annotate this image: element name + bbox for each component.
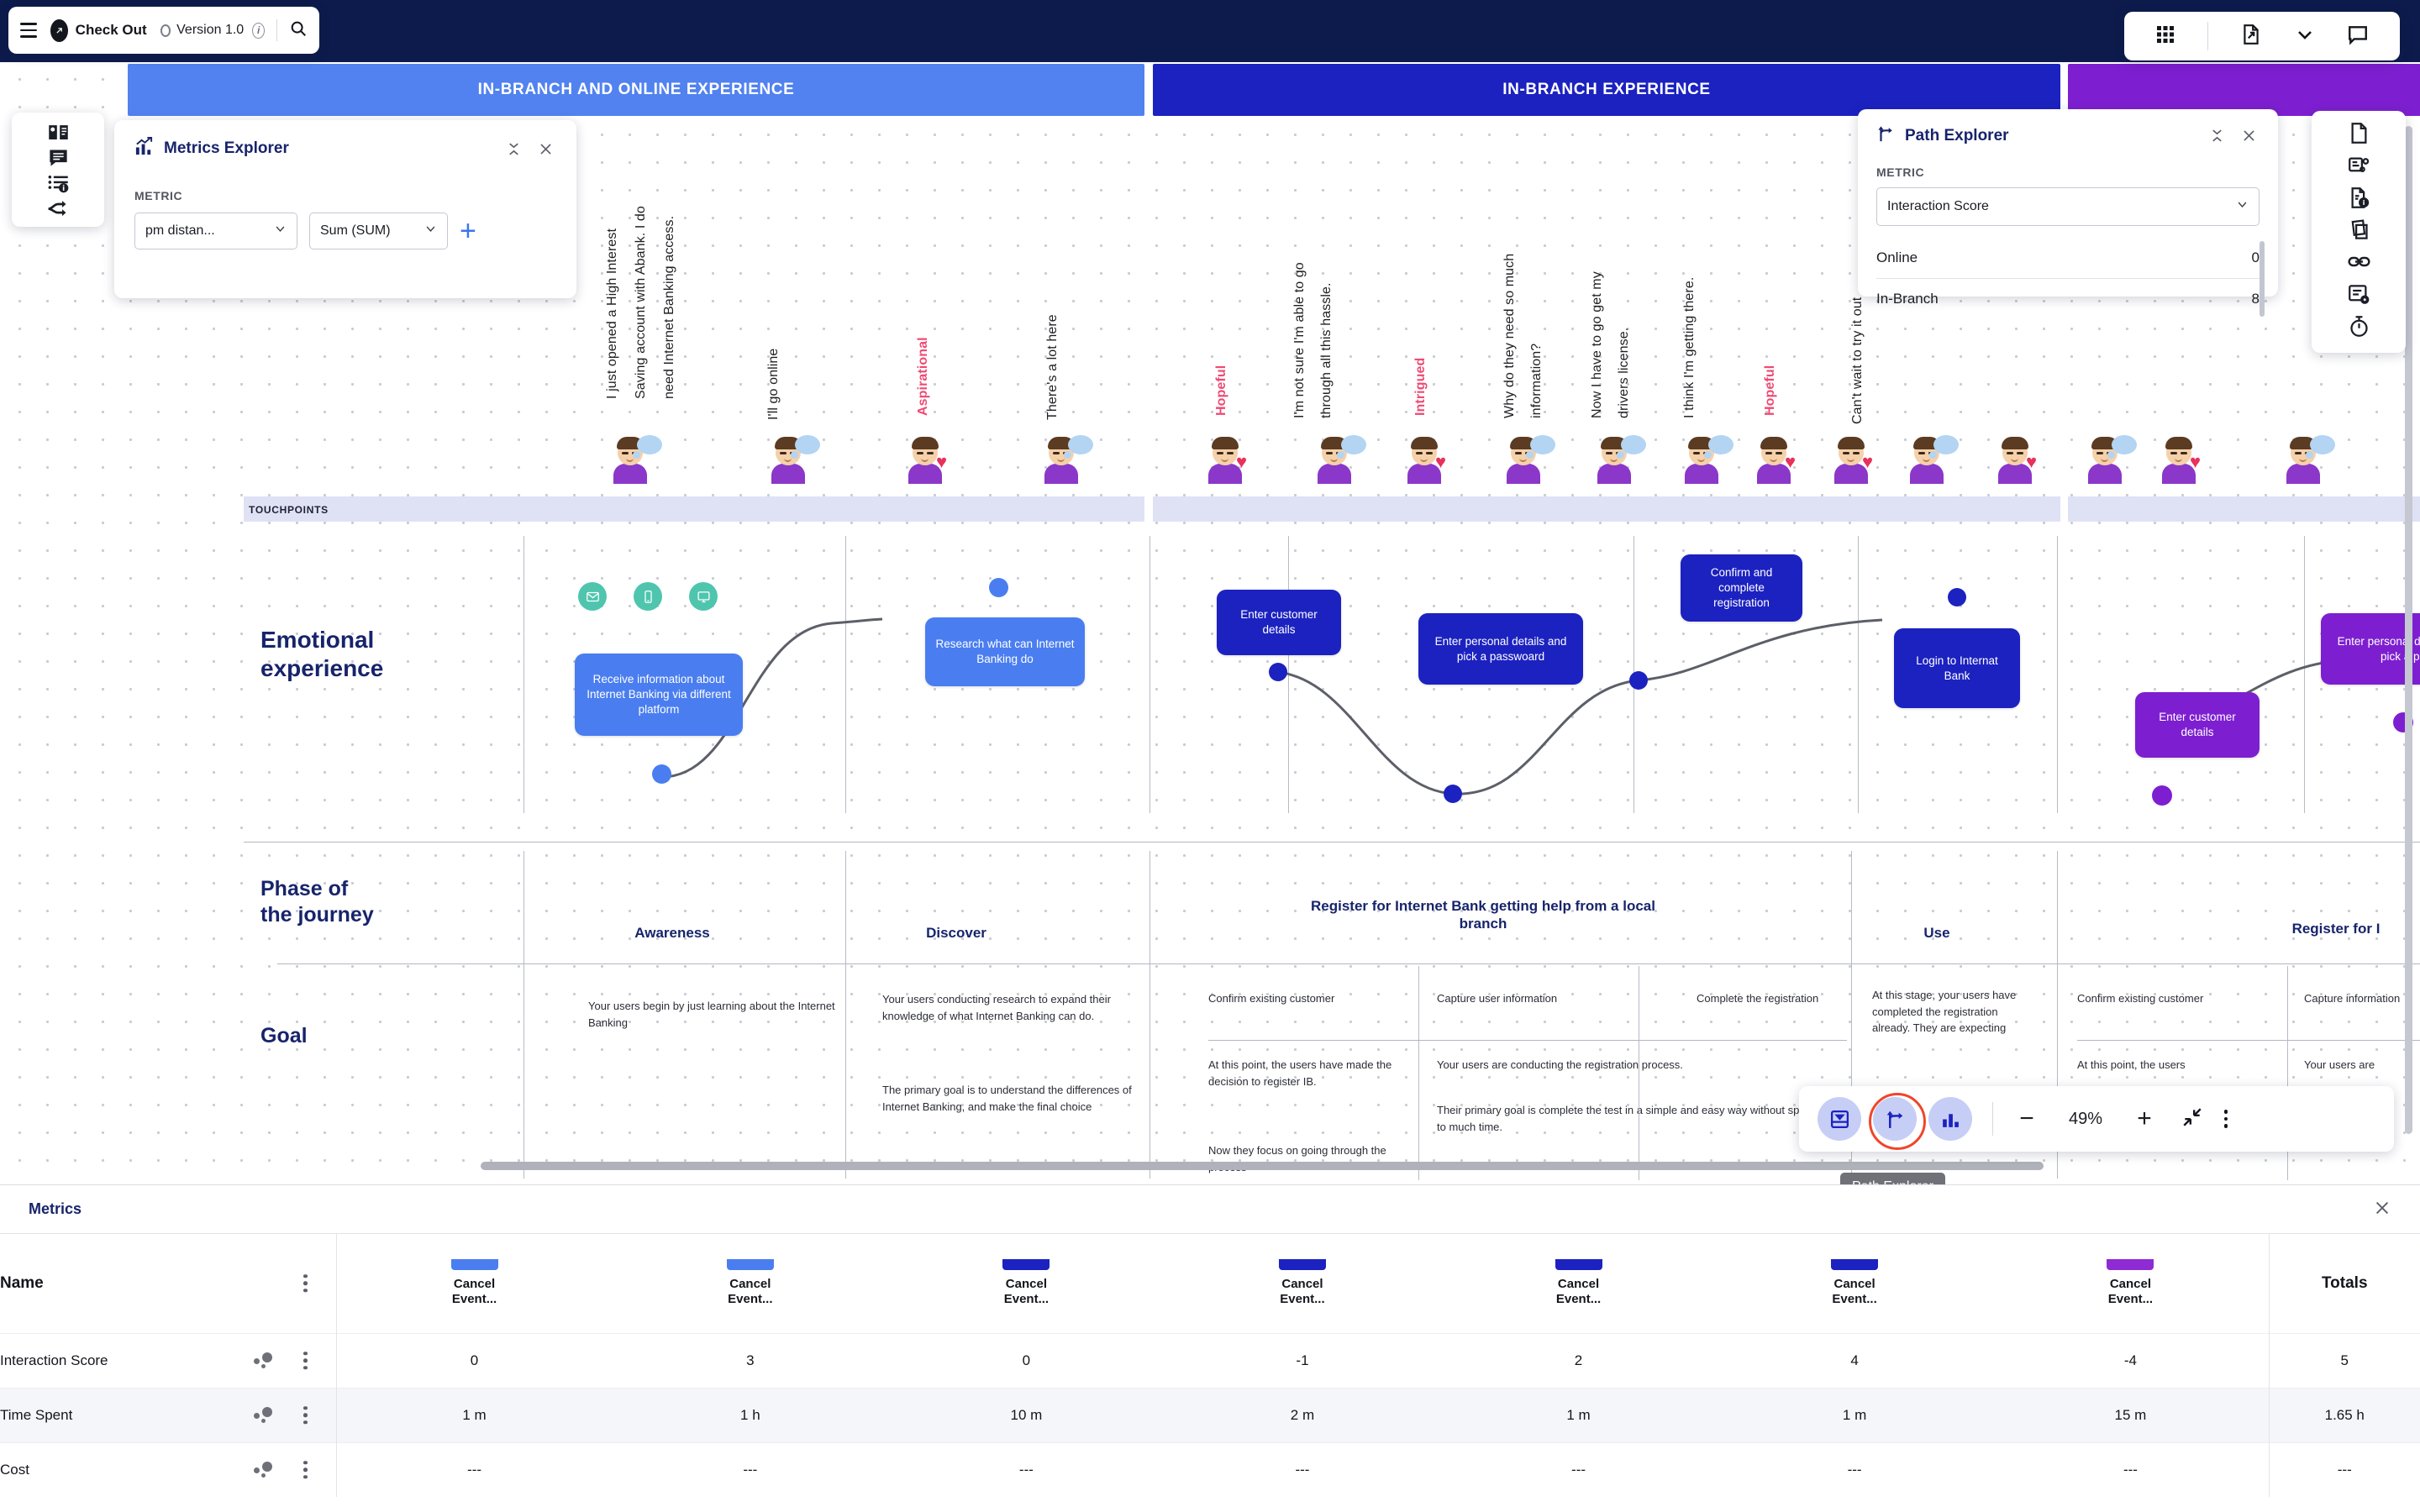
metric-value-cell: 1 m [336,1388,613,1442]
quote-label: I'll go online [765,311,782,420]
metric-value-cell: 1 m [1717,1388,1993,1442]
path-split-icon [1876,124,1895,147]
metric-value-cell: --- [1165,1442,1441,1497]
metric-value-cell: -4 [1992,1333,2269,1388]
path-list-scrollbar[interactable] [2260,241,2265,317]
banner-label: IN-BRANCH AND ONLINE EXPERIENCE [478,81,795,99]
journey-step-label: Enter customer details [2144,710,2251,740]
emotional-experience-title: Emotional experience [260,626,383,683]
kebab-icon[interactable] [303,1352,308,1370]
top-right-toolbar [2124,12,2400,60]
emotion-point[interactable] [1629,671,1648,690]
list-info-icon[interactable]: i [44,170,72,195]
persona-avatar: ♥ [1206,435,1255,484]
metric-field-label: METRIC [1876,165,2260,179]
metrics-explorer-button[interactable] [1928,1097,1972,1141]
path-explorer-panel: Path Explorer METRIC Interaction Score O… [1858,109,2278,297]
metric-value-cell: --- [1440,1442,1717,1497]
phase-of-journey-title: Phase of the journey [260,876,374,927]
app-bar: Check Out Version 1.0 i [8,7,319,54]
banner-in-branch: IN-BRANCH EXPERIENCE [1153,64,2060,116]
persona-avatar [1504,435,1553,484]
persona-avatar: ♥ [2160,435,2208,484]
metric-value-cell: 15 m [1992,1388,2269,1442]
file-export-icon[interactable] [2240,24,2262,50]
persona-avatar: ♥ [1996,435,2044,484]
panel-title: Metrics Explorer [164,139,492,158]
sub-phase-label: Confirm existing customer [2077,991,2237,1007]
quote-label: need Internet Banking access. [660,147,678,399]
persona-avatar [611,435,660,484]
phase-label: Register for I [2252,920,2420,937]
journey-step-card[interactable]: Confirm and complete registration [1681,554,1802,622]
goal-text: Now they focus on going through the proc… [1208,1142,1402,1175]
svg-text:i: i [2362,199,2365,207]
metric-name-label: Time Spent [0,1407,72,1423]
emotion-point[interactable] [2152,785,2172,806]
page-title: Check Out [76,22,147,39]
column-header-event[interactable]: CancelEvent... [888,1234,1165,1333]
journey-step-card[interactable]: Login to Internat Bank [1894,628,2020,708]
sub-phase-label: Capture user information [1437,991,1597,1007]
divider [1992,1102,1993,1136]
metrics-table-header: Metrics [0,1185,2420,1234]
app-logo-icon[interactable] [50,19,68,42]
path-row-label: In-Branch [1876,291,1939,307]
metrics-table: NameCancelEvent...CancelEvent...CancelEv… [0,1234,2420,1497]
quote-label: I'm not sure I'm able to go [1291,208,1308,418]
persona-avatar: ♥ [1832,435,1881,484]
banner-in-branch-online: IN-BRANCH AND ONLINE EXPERIENCE [128,64,1144,116]
metric-value-cell: 1 h [613,1388,889,1442]
column-header-event[interactable]: CancelEvent... [613,1234,889,1333]
bottom-toolbar: − 49% + [1799,1086,2394,1152]
kebab-icon[interactable] [303,1461,308,1479]
version-status-icon [160,24,171,37]
goal-text: Your users conducting research to expand… [882,991,1134,1024]
bubble-chart-icon[interactable] [254,1462,272,1478]
close-icon[interactable] [2373,1199,2391,1221]
metric-name-label: Interaction Score [0,1352,108,1368]
table-row[interactable]: Time Spent1 m1 h10 m2 m1 m1 m15 m1.65 h [0,1388,2420,1442]
zoom-level: 49% [2044,1110,2128,1129]
aggregation-select-value: Sum (SUM) [320,223,391,239]
metrics-explorer-panel: Metrics Explorer METRIC pm distan... Sum… [114,120,576,298]
column-header-totals: Totals [2269,1234,2420,1333]
emotion-point[interactable] [1269,663,1287,681]
journey-step-card[interactable]: Receive information about Internet Banki… [575,654,743,736]
journey-step-label: Enter customer details [1225,607,1333,638]
phase-label: Use [1882,924,1991,942]
path-explorer-row[interactable]: In-Branch8 [1876,278,2260,318]
quote-label: Saving account with Abank. I do [632,147,650,399]
metric-name-cell: Cost [0,1442,336,1497]
chevron-down-icon [2236,198,2249,215]
bubble-chart-icon[interactable] [254,1352,272,1369]
metrics-chart-icon [134,137,154,160]
sub-phase-label: Complete the registration [1697,991,1852,1007]
path-row-value: 8 [2252,291,2260,307]
journey-step-card[interactable]: Enter customer details [1217,590,1341,655]
persona-avatar [1595,435,1644,484]
quote-label: I think I'm getting there. [1681,223,1698,418]
event-label: CancelEvent... [1165,1277,1441,1309]
event-color-chip [1831,1259,1878,1270]
canvas-horizontal-scrollbar[interactable] [481,1162,2044,1170]
file-icon[interactable] [2348,122,2370,149]
metric-value-cell: --- [1717,1442,1993,1497]
zoom-out-button[interactable]: − [2010,1105,2044,1133]
collapse-icon[interactable] [502,138,524,160]
metric-total-cell: --- [2269,1442,2420,1497]
aggregation-select[interactable]: Sum (SUM) [309,213,448,249]
journey-step-card[interactable]: Research what can Internet Banking do [925,617,1085,686]
metric-value-cell: 0 [888,1333,1165,1388]
list-gear-icon[interactable] [2348,283,2370,310]
metrics-table-title: Metrics [29,1200,82,1218]
left-icon-rail: i [12,113,104,227]
kebab-icon[interactable] [303,1406,308,1425]
metric-field-label: METRIC [134,189,556,202]
event-label: CancelEvent... [337,1277,613,1309]
event-color-chip [1555,1259,1602,1270]
persona-avatar: ♥ [906,435,955,484]
banner-purple [2068,64,2420,116]
sub-phase-label: Capture information [2304,991,2420,1007]
phase-label: Discover [872,924,1040,942]
collapse-icon[interactable] [2206,125,2228,147]
path-metric-value: Interaction Score [1887,199,1989,214]
path-explorer-row[interactable]: Online0 [1876,238,2260,278]
metric-value-cell: 3 [613,1333,889,1388]
goal-text: At this point, the users have made the d… [1208,1057,1402,1089]
touchpoints-band-2 [1153,496,2060,522]
sub-phase-label: Confirm existing customer [1208,991,1368,1007]
journey-step-label: Research what can Internet Banking do [934,637,1076,667]
metrics-panel-button[interactable] [1818,1097,1861,1141]
copies-icon[interactable] [2348,218,2370,245]
grid-apps-icon[interactable] [2155,24,2175,49]
stopwatch-icon[interactable] [2348,315,2370,342]
metric-total-cell: 1.65 h [2269,1388,2420,1442]
panel-header: Path Explorer [1876,124,2260,147]
metric-select[interactable]: pm distan... [134,213,297,249]
divider [276,19,277,41]
chevron-down-icon[interactable] [2295,24,2315,49]
metric-value-cell: --- [1992,1442,2269,1497]
card-node-icon[interactable] [2348,154,2370,181]
emotion-point[interactable] [652,764,671,784]
version-label: Version 1.0 [176,23,244,38]
journey-step-card[interactable]: Enter customer details [2135,692,2260,758]
table-row[interactable]: Cost------------------------ [0,1442,2420,1497]
banner-label: IN-BRANCH EXPERIENCE [1502,81,1710,99]
event-label: CancelEvent... [888,1277,1165,1309]
quote-label: information? [1528,208,1545,418]
metric-name-label: Cost [0,1462,29,1478]
hamburger-icon[interactable] [20,23,37,38]
table-header-row: NameCancelEvent...CancelEvent...CancelEv… [0,1234,2420,1333]
column-header-event[interactable]: CancelEvent... [336,1234,613,1333]
persona-avatar [2086,435,2134,484]
close-icon[interactable] [534,138,556,160]
persona-avatar [1315,435,1364,484]
add-metric-button[interactable]: + [460,217,476,245]
path-split-icon[interactable] [44,195,72,220]
persona-avatar [2284,435,2333,484]
metric-select-value: pm distan... [145,223,215,239]
touchpoints-band-1 [244,496,1144,522]
touchpoints-label: TOUCHPOINTS [249,504,329,516]
fit-screen-icon[interactable] [2181,1106,2203,1132]
column-header-name: Name [0,1234,336,1333]
more-options-button[interactable] [2213,1110,2238,1128]
quote-label: drivers license. [1615,225,1633,418]
quote-label: Hopeful [1761,323,1779,416]
svg-text:i: i [62,184,65,192]
book-icon[interactable] [44,119,72,144]
metric-total-cell: 5 [2269,1333,2420,1388]
persona-avatar: ♥ [1405,435,1454,484]
goal-text: The primary goal is to understand the di… [882,1082,1134,1115]
file-info-icon[interactable]: i [2348,186,2370,213]
search-icon[interactable] [289,19,308,42]
panel-header: Metrics Explorer [134,137,556,160]
right-icon-rail: i [2312,111,2406,353]
metric-value-cell: 4 [1717,1333,1993,1388]
event-label: CancelEvent... [1992,1277,2268,1309]
metric-value-cell: 10 m [888,1388,1165,1442]
chat-icon[interactable] [2347,24,2369,50]
metrics-table-panel: Metrics NameCancelEvent...CancelEvent...… [0,1184,2420,1512]
metric-value-cell: 2 [1440,1333,1717,1388]
column-header-event[interactable]: CancelEvent... [1165,1234,1441,1333]
event-color-chip [1279,1259,1326,1270]
event-label: CancelEvent... [1440,1277,1717,1309]
top-strip [0,0,2420,62]
path-metric-select[interactable]: Interaction Score [1876,187,2260,226]
quote-label: Now I have to go get my [1588,225,1606,418]
metric-value-cell: 2 m [1165,1388,1441,1442]
event-label: CancelEvent... [613,1277,889,1309]
event-color-chip [1002,1259,1050,1270]
event-color-chip [2107,1259,2154,1270]
chevron-down-icon [424,223,437,239]
journey-step-label: Login to Internat Bank [1902,654,2012,684]
quote-label: Intrigued [1412,319,1429,416]
zoom-in-button[interactable]: + [2128,1105,2161,1133]
metric-value-cell: --- [613,1442,889,1497]
quote-label: There's a lot here [1044,286,1061,420]
persona-avatar [769,435,818,484]
persona-avatar [1682,435,1731,484]
event-color-chip [727,1259,774,1270]
metric-value-cell: --- [888,1442,1165,1497]
canvas-vertical-scrollbar[interactable] [2405,126,2412,1134]
column-header-event[interactable]: CancelEvent... [1440,1234,1717,1333]
metric-value-cell: --- [336,1442,613,1497]
journey-step-label: Confirm and complete registration [1689,565,1794,610]
persona-avatar [1042,435,1091,484]
journey-step-label: Receive information about Internet Banki… [583,672,734,717]
name-header-label: Name [0,1274,44,1292]
goal-text: Your users are [2304,1057,2420,1074]
panel-title: Path Explorer [1905,127,2196,145]
goal-text: Your users begin by just learning about … [588,998,865,1031]
touchpoints-band-3 [2068,496,2420,522]
metric-field-row: pm distan... Sum (SUM) + [134,213,556,249]
path-explorer-list: Online0In-Branch8 [1876,238,2260,318]
metric-value-cell: 1 m [1440,1388,1717,1442]
journey-step-card[interactable]: Enter personal details and pick a passwo… [1418,613,1583,685]
column-header-event[interactable]: CancelEvent... [1717,1234,1993,1333]
divider [2207,22,2208,50]
emotion-point[interactable] [1948,588,1966,606]
persona-avatar [1907,435,1956,484]
journey-step-label: Enter personal details and pick a passwo… [1427,634,1575,664]
bubble-chart-icon[interactable] [254,1407,272,1424]
column-header-event[interactable]: CancelEvent... [1992,1234,2269,1333]
comment-icon[interactable] [44,144,72,170]
quote-label: I just opened a High Interest [603,147,621,399]
event-color-chip [451,1259,498,1270]
info-icon[interactable]: i [252,23,265,39]
metric-value-cell: -1 [1165,1333,1441,1388]
event-label: CancelEvent... [1717,1277,1993,1309]
phase-label: Register for Internet Bank getting help … [1302,897,1664,933]
metric-name-cell: Time Spent [0,1388,336,1442]
goal-text: At this point, the users [2077,1057,2237,1074]
metric-value-cell: 0 [336,1333,613,1388]
path-row-label: Online [1876,249,1918,266]
phase-label: Awareness [588,924,756,942]
quote-label: Aspirational [914,307,932,416]
path-row-value: 0 [2252,249,2260,266]
link-icon[interactable] [2348,250,2370,277]
metric-name-cell: Interaction Score [0,1333,336,1388]
chevron-down-icon [274,223,287,239]
goal-title: Goal [260,1023,308,1049]
persona-avatar: ♥ [1754,435,1803,484]
emotion-point[interactable] [989,578,1008,597]
path-explorer-button[interactable] [1873,1097,1917,1141]
quote-label: through all this hassle. [1318,208,1335,418]
close-icon[interactable] [2238,125,2260,147]
quote-label: Hopeful [1213,323,1230,416]
emotion-point[interactable] [1444,785,1462,803]
goal-text: At this stage, your users have completed… [1872,987,2023,1037]
quote-label: Why do they need so much [1501,208,1518,418]
kebab-icon[interactable] [303,1274,308,1293]
table-row[interactable]: Interaction Score030-124-45 [0,1333,2420,1388]
